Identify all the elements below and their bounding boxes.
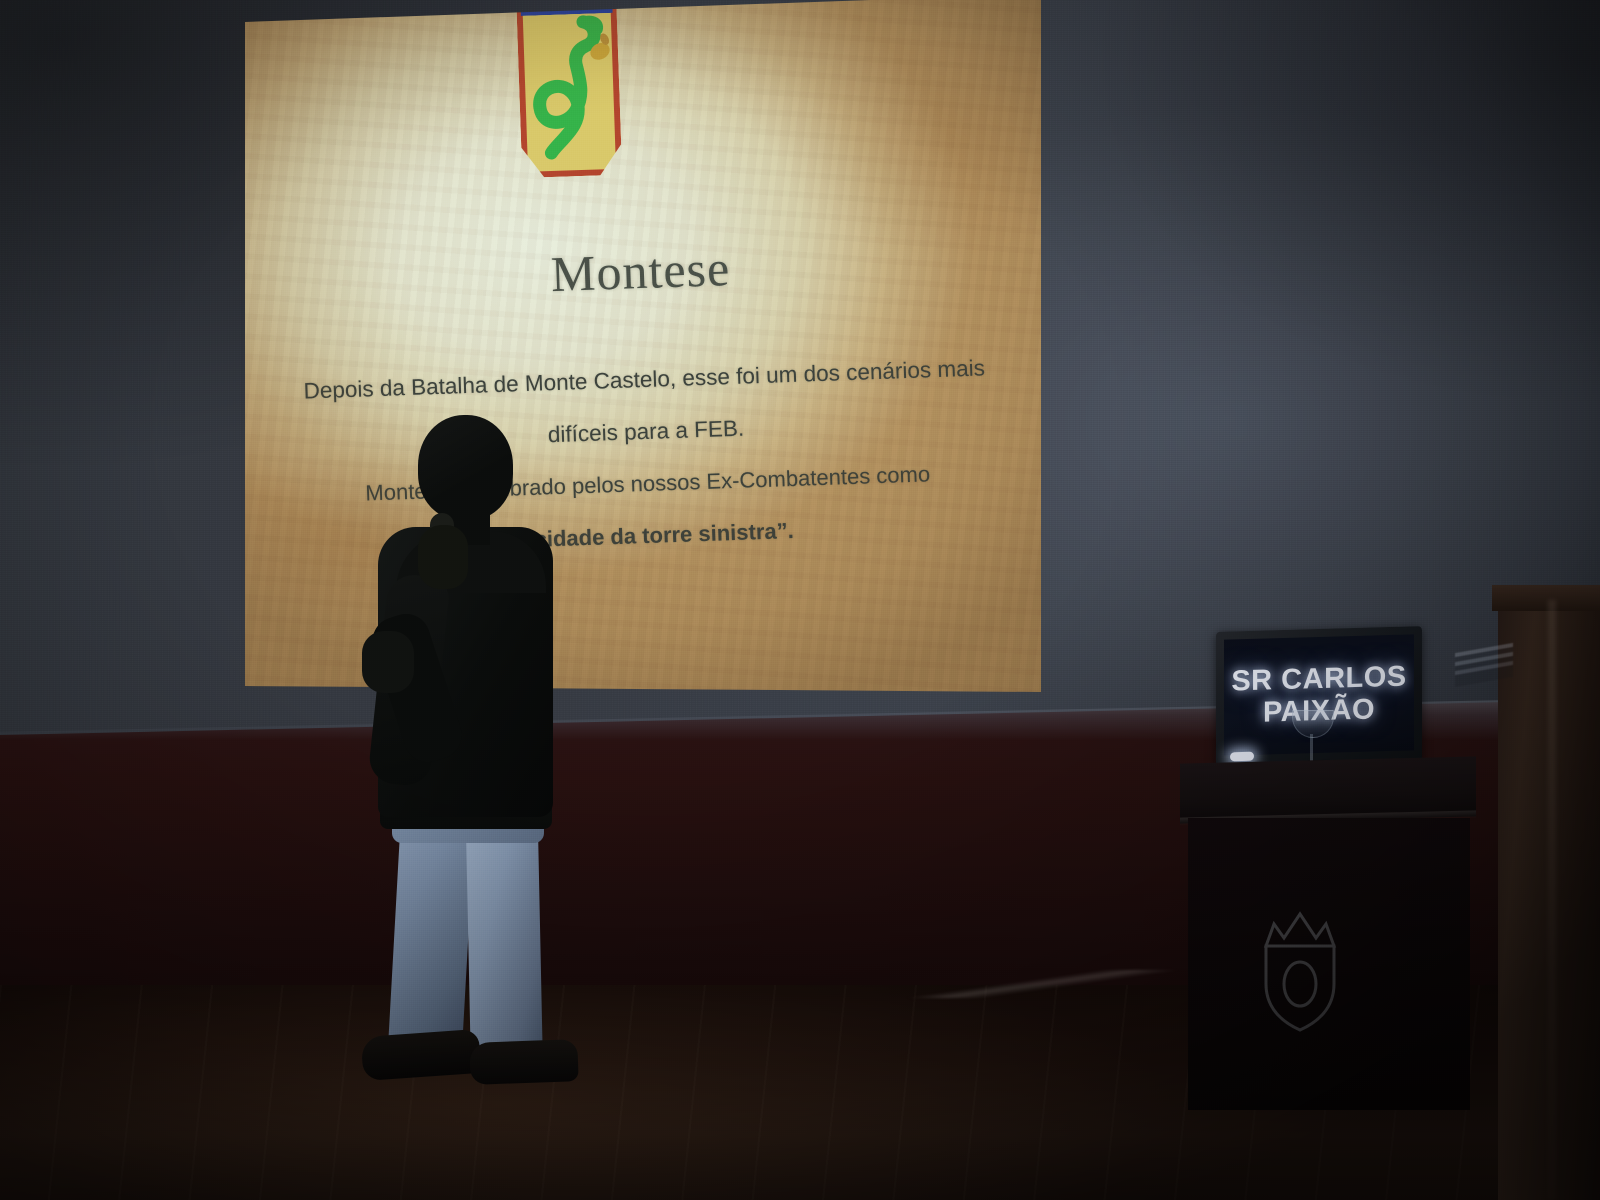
- monitor-text-line-1: SR CARLOS: [1231, 661, 1406, 698]
- glass-bowl: [1292, 710, 1334, 738]
- column-highlight: [1548, 600, 1556, 1200]
- speaker-hand-holding-mic: [418, 525, 468, 589]
- speaker-left-shoe: [361, 1029, 482, 1081]
- lectern-body: [1188, 818, 1470, 1110]
- lectern: [1180, 760, 1476, 1110]
- speaker-head: [418, 415, 513, 520]
- speaker-silhouette: [300, 405, 600, 1105]
- speaker-second-hand: [362, 631, 414, 693]
- naval-crest-icon: [1246, 906, 1354, 1034]
- column-cap: [1492, 585, 1600, 611]
- auditorium-photo: BRASIL Montese Depois da Batalha de Mont…: [0, 0, 1600, 1200]
- speaker-right-shoe: [469, 1039, 578, 1085]
